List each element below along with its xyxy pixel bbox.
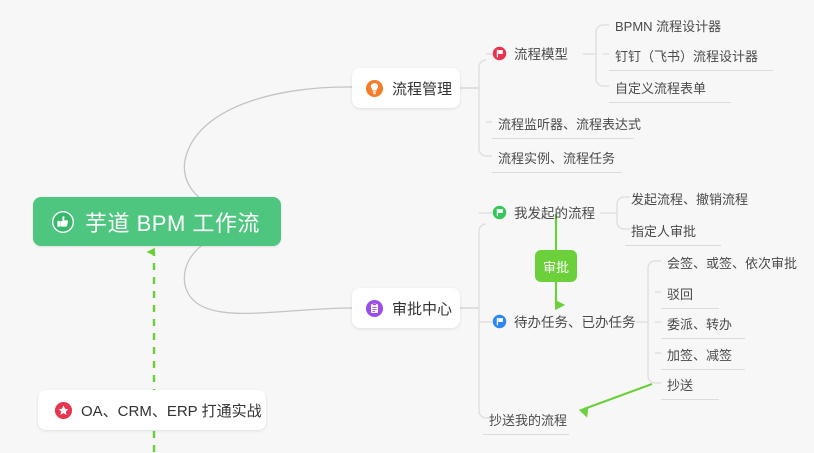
thumbs-up-icon bbox=[51, 210, 75, 234]
edge-approval-spine bbox=[479, 224, 486, 418]
footer-card-label: OA、CRM、ERP 打通实战 bbox=[81, 400, 262, 421]
edge-model-spine bbox=[596, 25, 603, 86]
branch-label-process-management: 流程管理 bbox=[392, 78, 452, 99]
leaf-custom-form[interactable]: 自定义流程表单 bbox=[609, 75, 731, 103]
lightbulb-icon bbox=[365, 79, 384, 98]
star-icon bbox=[54, 401, 73, 420]
edge-process-spine bbox=[479, 60, 486, 156]
leaf-cc-to-me[interactable]: 抄送我的流程 bbox=[483, 407, 569, 435]
topic-my-initiated[interactable]: 我发起的流程 bbox=[492, 202, 595, 222]
topic-label-process-model: 流程模型 bbox=[514, 43, 568, 63]
edge-mine-spine bbox=[617, 197, 624, 229]
topic-process-model[interactable]: 流程模型 bbox=[492, 43, 568, 63]
footer-card-oa-crm-erp[interactable]: OA、CRM、ERP 打通实战 bbox=[38, 390, 266, 430]
flag-icon bbox=[492, 205, 507, 220]
leaf-dingtalk-designer[interactable]: 钉钉（飞书）流程设计器 bbox=[609, 43, 773, 71]
leaf-countersign[interactable]: 会签、或签、依次审批 bbox=[661, 250, 809, 277]
leaf-process-instance[interactable]: 流程实例、流程任务 bbox=[492, 145, 622, 173]
edge-todo-spine bbox=[648, 261, 655, 383]
flag-icon bbox=[492, 46, 507, 61]
leaf-delegate-transfer[interactable]: 委派、转办 bbox=[661, 311, 745, 339]
leaf-reject[interactable]: 驳回 bbox=[661, 281, 719, 309]
root-label: 芋道 BPM 工作流 bbox=[85, 206, 260, 238]
leaf-add-remove-sign[interactable]: 加签、减签 bbox=[661, 342, 745, 370]
annotation-approval-pill: 审批 bbox=[535, 250, 577, 282]
leaf-assignee-approval[interactable]: 指定人审批 bbox=[625, 218, 721, 246]
root-node[interactable]: 芋道 BPM 工作流 bbox=[33, 197, 281, 246]
branch-label-approval-center: 审批中心 bbox=[392, 298, 452, 319]
leaf-bpmn-designer[interactable]: BPMN 流程设计器 bbox=[609, 13, 743, 40]
leaf-process-listener[interactable]: 流程监听器、流程表达式 bbox=[492, 111, 634, 139]
topic-todo-done-tasks[interactable]: 待办任务、已办任务 bbox=[492, 311, 636, 331]
topic-label-my-initiated: 我发起的流程 bbox=[514, 202, 595, 222]
mindmap-canvas: 芋道 BPM 工作流 流程管理 审批中心 bbox=[0, 0, 814, 453]
clipboard-icon bbox=[365, 299, 384, 318]
branch-card-approval-center[interactable]: 审批中心 bbox=[352, 288, 460, 328]
flag-icon bbox=[492, 314, 507, 329]
leaf-carbon-copy[interactable]: 抄送 bbox=[661, 372, 719, 400]
branch-card-process-management[interactable]: 流程管理 bbox=[352, 68, 460, 108]
arrow-cc-to-ccmine bbox=[584, 384, 652, 409]
topic-label-todo-done-tasks: 待办任务、已办任务 bbox=[514, 311, 636, 331]
leaf-start-cancel-process[interactable]: 发起流程、撤销流程 bbox=[625, 186, 757, 213]
annotation-approval-label: 审批 bbox=[543, 257, 569, 276]
